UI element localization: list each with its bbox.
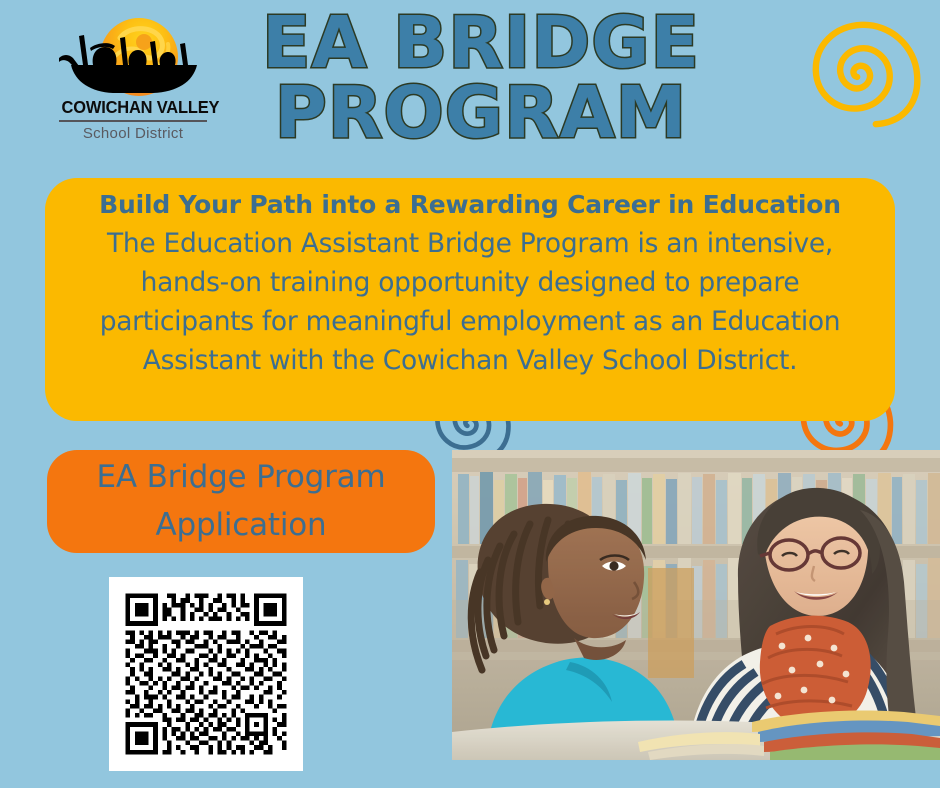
page-title: EA BRIDGE PROGRAM — [246, 8, 716, 149]
info-panel-body: The Education Assistant Bridge Program i… — [63, 224, 877, 381]
classroom-photo-illustration — [452, 450, 940, 760]
spiral-icon-top-right — [805, 14, 923, 132]
ea-bridge-program-application-button[interactable]: EA Bridge Program Application — [47, 450, 435, 553]
info-panel-heading: Build Your Path into a Rewarding Career … — [63, 188, 877, 222]
page-title-line-1: EA BRIDGE — [246, 8, 716, 78]
logo-district-name: COWICHAN VALLEY — [62, 97, 205, 118]
cowichan-valley-school-district-logo: COWICHAN VALLEY School District — [57, 16, 209, 136]
logo-divider — [59, 120, 207, 122]
qr-code[interactable] — [109, 577, 303, 771]
poster-canvas: COWICHAN VALLEY School District EA BRIDG… — [0, 0, 940, 788]
apply-button-label: EA Bridge Program Application — [47, 454, 435, 549]
program-info-panel: Build Your Path into a Rewarding Career … — [45, 178, 895, 421]
qr-code-image — [121, 589, 291, 759]
classroom-photo — [452, 450, 940, 760]
logo-subtitle: School District — [57, 125, 209, 142]
canoe-silhouette-icon — [57, 32, 209, 96]
logo-mark — [57, 16, 209, 96]
page-title-line-2: PROGRAM — [246, 78, 716, 148]
